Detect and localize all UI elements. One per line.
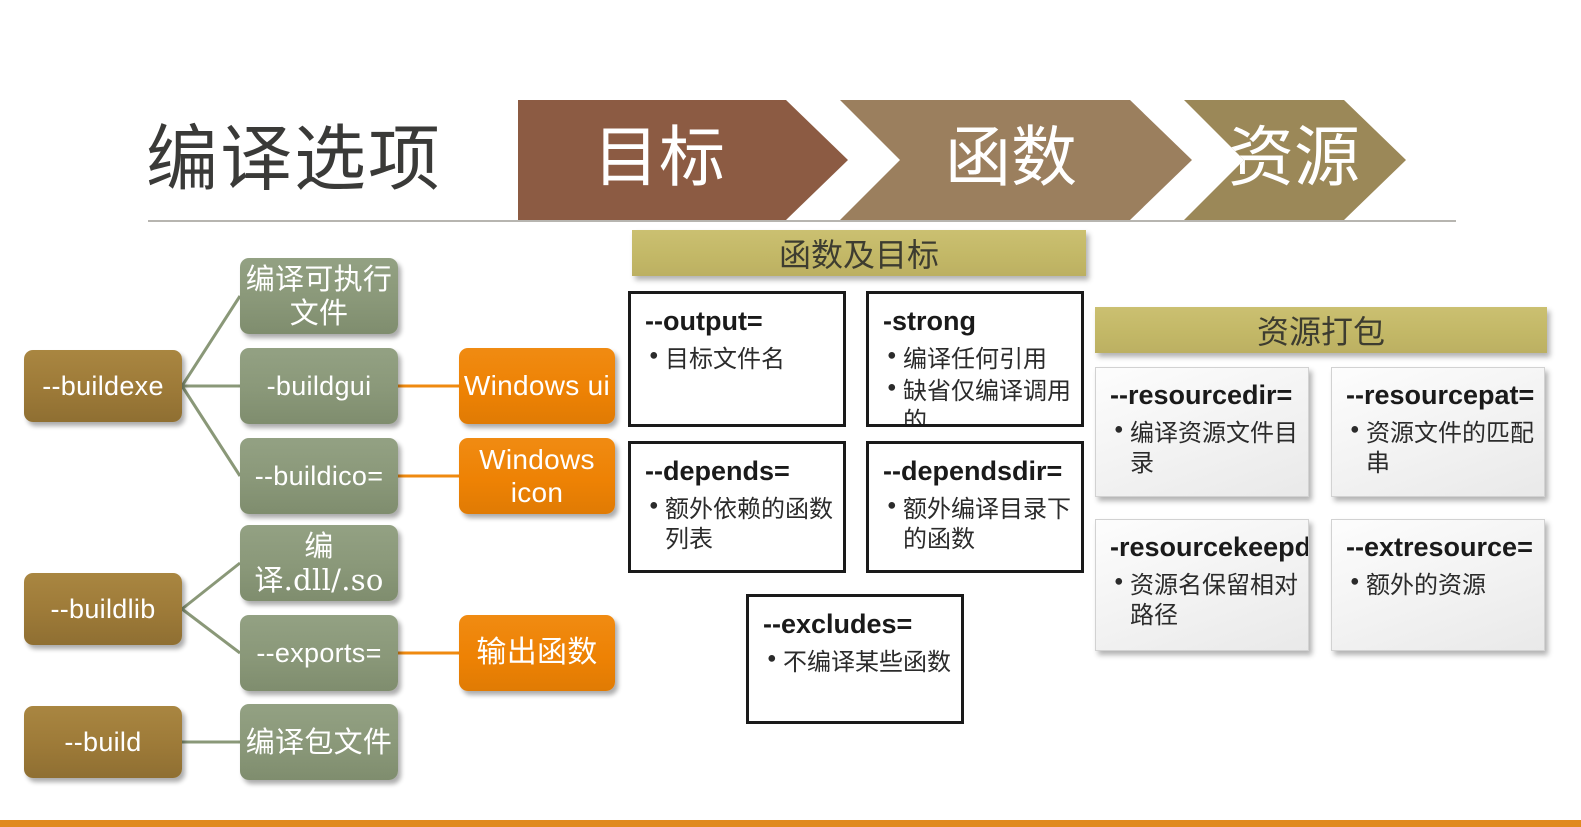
tree-output-export-functions-label: 输出函数 bbox=[476, 635, 597, 670]
card-strong-item: 编译任何引用 bbox=[883, 344, 1071, 374]
tree-root-build-label: --build bbox=[64, 727, 141, 758]
section-header-resource-packaging: 资源打包 bbox=[1095, 307, 1547, 353]
tree-root-buildlib[interactable]: --buildlib bbox=[24, 573, 182, 645]
tree-node-build-dll-so-label: 编译.dll/.so bbox=[240, 529, 398, 597]
section-header-function-target: 函数及目标 bbox=[632, 230, 1086, 276]
tree-root-buildexe[interactable]: --buildexe bbox=[24, 350, 182, 422]
card-resourcekeepdir-title: -resourcekeepdir bbox=[1110, 532, 1298, 563]
card-resourcedir-title: --resourcedir= bbox=[1110, 380, 1298, 411]
tree-node-buildico-label: --buildico= bbox=[255, 461, 384, 492]
card-output-title: --output= bbox=[645, 306, 833, 337]
tree-output-windows-ui-label: Windows ui bbox=[464, 369, 610, 402]
chevron-label-resource: 资源 bbox=[1228, 125, 1360, 191]
card-resourcepat-title: --resourcepat= bbox=[1346, 380, 1534, 411]
card-strong-title: -strong bbox=[883, 306, 1071, 337]
tree-node-buildico[interactable]: --buildico= bbox=[240, 438, 398, 514]
card-resourcedir-item: 编译资源文件目录 bbox=[1110, 418, 1298, 478]
section-header-resource-packaging-label: 资源打包 bbox=[1257, 307, 1385, 353]
tree-node-build-exe-file[interactable]: 编译可执行文件 bbox=[240, 258, 398, 334]
card-resourcekeepdir-item: 资源名保留相对路径 bbox=[1110, 570, 1298, 630]
tree-output-windows-icon-label: Windows icon bbox=[459, 443, 615, 509]
card-extresource-title: --extresource= bbox=[1346, 532, 1534, 563]
chevron-banner: 目标 函数 资源 bbox=[0, 95, 1400, 225]
tree-node-build-exe-file-label: 编译可执行文件 bbox=[240, 262, 398, 330]
tree-node-exports[interactable]: --exports= bbox=[240, 615, 398, 691]
card-resourcekeepdir-list: 资源名保留相对路径 bbox=[1110, 570, 1298, 630]
tree-node-build-package-file-label: 编译包文件 bbox=[246, 725, 393, 759]
card-resourcepat[interactable]: --resourcepat= 资源文件的匹配串 bbox=[1331, 367, 1545, 497]
card-resourcepat-item: 资源文件的匹配串 bbox=[1346, 418, 1534, 478]
tree-node-exports-label: --exports= bbox=[256, 638, 381, 669]
card-output-list: 目标文件名 bbox=[645, 344, 833, 374]
chevron-segment-function[interactable]: 函数 bbox=[840, 100, 1192, 220]
card-depends[interactable]: --depends= 额外依赖的函数列表 bbox=[628, 441, 846, 573]
chevron-label-target: 目标 bbox=[593, 125, 725, 191]
slide-canvas: 编译选项 目标 函数 资源 bbox=[0, 0, 1581, 827]
tree-root-build[interactable]: --build bbox=[24, 706, 182, 778]
card-dependsdir[interactable]: --dependsdir= 额外编译目录下的函数 bbox=[866, 441, 1084, 573]
card-excludes-title: --excludes= bbox=[763, 609, 951, 640]
card-extresource[interactable]: --extresource= 额外的资源 bbox=[1331, 519, 1545, 651]
tree-root-buildlib-label: --buildlib bbox=[50, 594, 155, 625]
section-header-function-target-label: 函数及目标 bbox=[779, 230, 939, 276]
card-depends-item: 额外依赖的函数列表 bbox=[645, 494, 833, 554]
tree-root-buildexe-label: --buildexe bbox=[42, 371, 164, 402]
tree-output-windows-ui[interactable]: Windows ui bbox=[459, 348, 615, 424]
card-strong-list: 编译任何引用 缺省仅编译调用的 bbox=[883, 344, 1071, 427]
tree-node-build-package-file[interactable]: 编译包文件 bbox=[240, 704, 398, 780]
card-dependsdir-title: --dependsdir= bbox=[883, 456, 1071, 487]
card-excludes-list: 不编译某些函数 bbox=[763, 647, 951, 677]
chevron-segment-target[interactable]: 目标 bbox=[518, 100, 848, 220]
card-extresource-item: 额外的资源 bbox=[1346, 570, 1534, 600]
tree-node-buildgui[interactable]: -buildgui bbox=[240, 348, 398, 424]
card-strong-item: 缺省仅编译调用的 bbox=[883, 376, 1071, 427]
card-strong[interactable]: -strong 编译任何引用 缺省仅编译调用的 bbox=[866, 291, 1084, 427]
card-depends-list: 额外依赖的函数列表 bbox=[645, 494, 833, 554]
card-dependsdir-item: 额外编译目录下的函数 bbox=[883, 494, 1071, 554]
card-excludes[interactable]: --excludes= 不编译某些函数 bbox=[746, 594, 964, 724]
card-resourcepat-list: 资源文件的匹配串 bbox=[1346, 418, 1534, 478]
card-depends-title: --depends= bbox=[645, 456, 833, 487]
card-excludes-item: 不编译某些函数 bbox=[763, 647, 951, 677]
chevron-segment-resource[interactable]: 资源 bbox=[1184, 100, 1406, 220]
card-output[interactable]: --output= 目标文件名 bbox=[628, 291, 846, 427]
tree-output-export-functions[interactable]: 输出函数 bbox=[459, 615, 615, 691]
card-resourcekeepdir[interactable]: -resourcekeepdir 资源名保留相对路径 bbox=[1095, 519, 1309, 651]
footer-accent-bar bbox=[0, 820, 1581, 827]
card-resourcedir-list: 编译资源文件目录 bbox=[1110, 418, 1298, 478]
card-dependsdir-list: 额外编译目录下的函数 bbox=[883, 494, 1071, 554]
card-resourcedir[interactable]: --resourcedir= 编译资源文件目录 bbox=[1095, 367, 1309, 497]
tree-output-windows-icon[interactable]: Windows icon bbox=[459, 438, 615, 514]
card-output-item: 目标文件名 bbox=[645, 344, 833, 374]
tree-node-buildgui-label: -buildgui bbox=[267, 371, 372, 402]
card-extresource-list: 额外的资源 bbox=[1346, 570, 1534, 600]
tree-node-build-dll-so[interactable]: 编译.dll/.so bbox=[240, 525, 398, 601]
chevron-label-function: 函数 bbox=[945, 125, 1077, 191]
